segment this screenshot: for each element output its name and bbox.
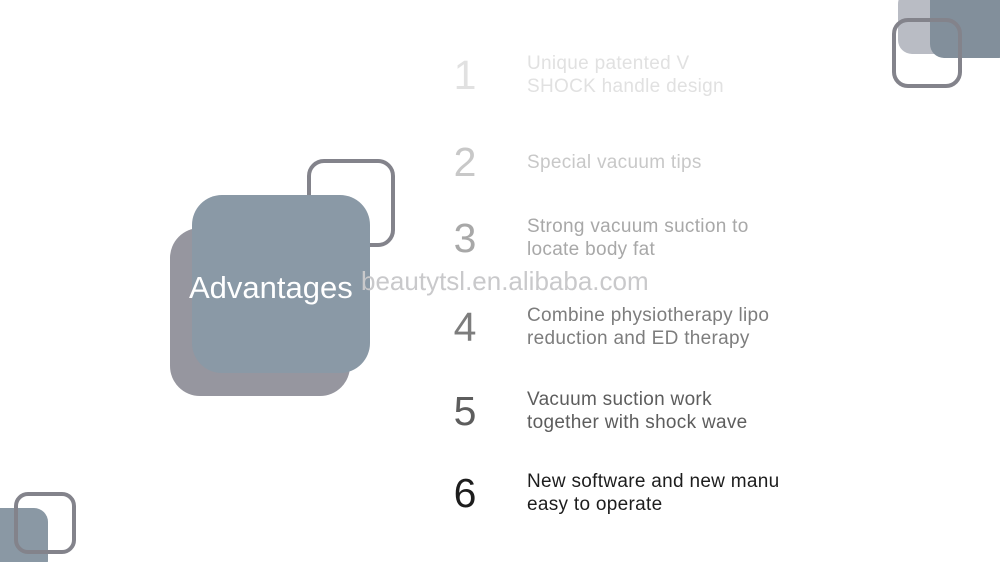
watermark-text: beautytsl.en.alibaba.com (361, 266, 649, 297)
decoration-bottom-left (0, 482, 92, 562)
list-item: 1 Unique patented V SHOCK handle design (440, 52, 860, 98)
list-item-label: Vacuum suction work together with shock … (527, 388, 860, 434)
list-item: 5 Vacuum suction work together with shoc… (440, 388, 860, 434)
list-item: 6 New software and new manu easy to oper… (440, 470, 860, 516)
decoration-square-outline-icon (892, 18, 962, 88)
list-item-label: Unique patented V SHOCK handle design (527, 52, 860, 98)
slide-canvas: Advantages beautytsl.en.alibaba.com 1 Un… (0, 0, 1000, 562)
list-item-label: Special vacuum tips (527, 151, 860, 174)
list-item-number: 2 (440, 142, 490, 183)
list-item-number: 1 (440, 55, 490, 96)
list-item-number: 6 (440, 473, 490, 514)
list-item-number: 5 (440, 391, 490, 432)
list-item: 2 Special vacuum tips (440, 142, 860, 183)
list-item-label: Combine physiotherapy lipo reduction and… (527, 304, 860, 350)
list-item-label: Strong vacuum suction to locate body fat (527, 215, 860, 261)
list-item-number: 3 (440, 218, 490, 259)
list-item: 3 Strong vacuum suction to locate body f… (440, 215, 860, 261)
list-item-label: New software and new manu easy to operat… (527, 470, 860, 516)
page-title: Advantages (189, 270, 353, 306)
decoration-top-right (892, 0, 1000, 84)
list-item-number: 4 (440, 307, 490, 348)
decoration-square-outline-icon (14, 492, 76, 554)
list-item: 4 Combine physiotherapy lipo reduction a… (440, 304, 860, 350)
